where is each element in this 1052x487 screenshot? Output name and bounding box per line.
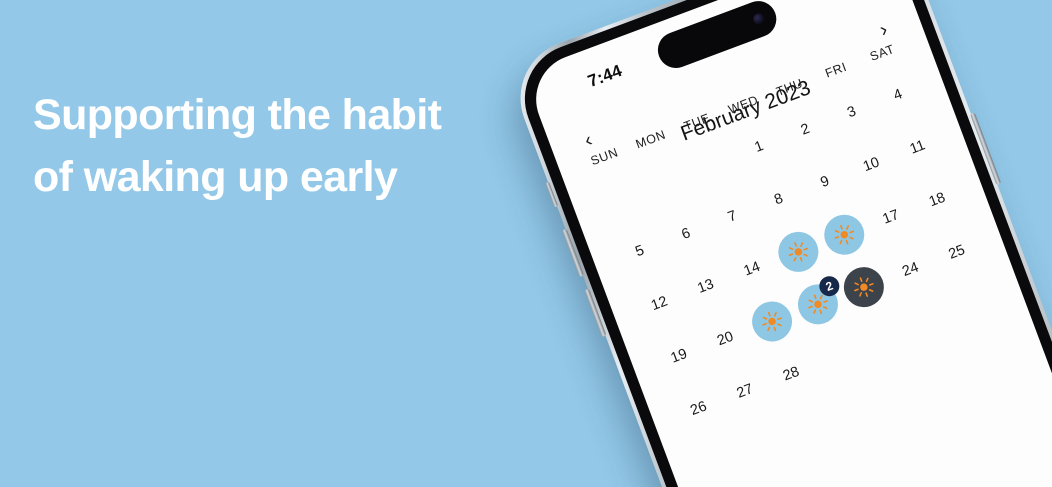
calendar-day-number: 3	[845, 103, 858, 121]
calendar-day-number: 4	[891, 86, 904, 104]
calendar-day-number: 12	[649, 293, 670, 314]
calendar-day-number: 5	[633, 242, 646, 260]
sun-icon	[783, 236, 814, 267]
weekday-label-fri: FRI	[810, 55, 861, 85]
calendar-day-number: 14	[742, 259, 763, 280]
calendar-day-number: 25	[947, 242, 968, 263]
front-camera-icon	[752, 12, 766, 26]
calendar-day-number: 11	[908, 137, 928, 157]
calendar-day-number: 18	[927, 190, 948, 211]
calendar-day-number: 2	[799, 121, 812, 139]
sun-icon	[756, 306, 787, 337]
weekday-label-tue: TUE	[671, 107, 722, 137]
next-month-button[interactable]: ›	[877, 19, 890, 40]
weekday-label-wed: WED	[718, 90, 769, 120]
habit-marker-blue[interactable]	[746, 296, 797, 347]
calendar-day-number: 6	[680, 225, 693, 243]
calendar-grid: SUNMONTUEWEDTHUFRISAT 123456789101112131…	[579, 38, 1007, 438]
calendar-day-number: 27	[735, 381, 756, 402]
headline-line-1: Supporting the habit	[33, 84, 573, 146]
habit-marker-blue[interactable]	[773, 226, 824, 277]
calendar-day-number: 8	[772, 191, 785, 209]
habit-marker-blue[interactable]	[819, 209, 870, 260]
calendar-day-number: 1	[753, 138, 766, 156]
calendar-day-number: 20	[715, 329, 736, 350]
sun-icon	[829, 219, 860, 250]
calendar-day-number: 10	[861, 154, 882, 175]
page-title: Supporting the habit of waking up early	[33, 84, 573, 209]
calendar-day-number: 28	[781, 364, 802, 385]
prev-month-button[interactable]: ‹	[582, 130, 595, 151]
sun-icon	[849, 272, 880, 303]
calendar-day-number: 9	[818, 173, 831, 191]
calendar-day-number: 26	[688, 398, 709, 419]
page-root: Supporting the habit of waking up early …	[0, 0, 1052, 487]
weekday-label-sat: SAT	[857, 38, 908, 68]
habit-marker-blue[interactable]: 2	[792, 279, 843, 330]
phone-screen: 7:44	[523, 0, 1052, 487]
calendar-day-number: 24	[900, 259, 921, 280]
phone-bezel: 7:44	[509, 0, 1052, 487]
status-bar-time: 7:44	[585, 61, 625, 92]
headline-line-2: of waking up early	[33, 146, 573, 208]
status-bar-indicators	[807, 0, 879, 5]
phone-frame: 7:44	[504, 0, 1052, 487]
dynamic-island	[653, 0, 782, 73]
weekday-label-thu: THU	[764, 72, 815, 102]
weekday-label-mon: MON	[625, 124, 676, 154]
habit-marker-dark[interactable]	[839, 261, 890, 312]
calendar-days-grid: 12345678910111213141718192022425262728	[589, 66, 1007, 438]
calendar-day-number: 19	[669, 346, 690, 367]
calendar-day-number: 17	[881, 207, 902, 228]
calendar-day-number: 13	[695, 276, 716, 297]
calendar-day-number: 7	[726, 208, 739, 226]
phone-mockup: 7:44	[504, 0, 1052, 487]
